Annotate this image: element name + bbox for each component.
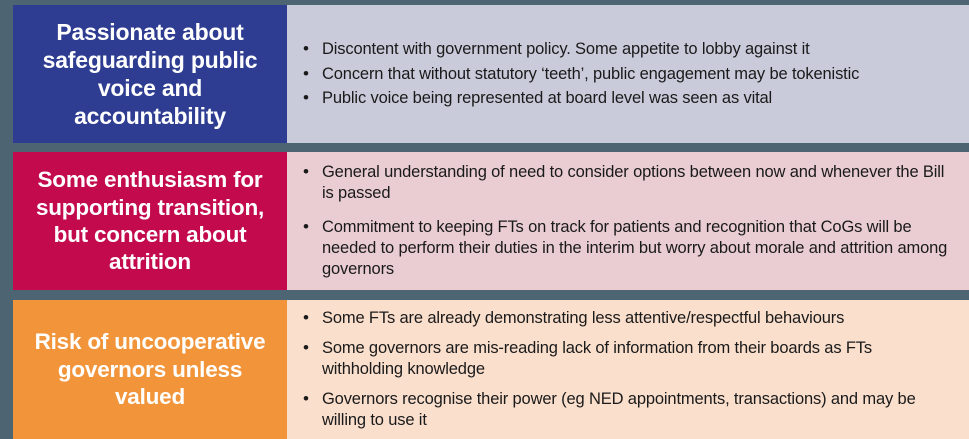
theme-row: Passionate about safeguarding public voi…: [0, 5, 969, 143]
list-item: Concern that without statutory ‘teeth’, …: [299, 64, 955, 85]
list-item: Some governors are mis-reading lack of i…: [299, 338, 955, 380]
list-item: General understanding of need to conside…: [299, 162, 955, 204]
theme-header-1: Some enthusiasm for supporting transitio…: [13, 152, 287, 290]
bullet-list-0: Discontent with government policy. Some …: [299, 39, 955, 110]
list-item: Governors recognise their power (eg NED …: [299, 389, 955, 431]
bullet-list-2: Some FTs are already demonstrating less …: [299, 308, 955, 431]
slide-canvas: Passionate about safeguarding public voi…: [0, 0, 969, 439]
theme-row: Some enthusiasm for supporting transitio…: [0, 152, 969, 290]
list-item: Public voice being represented at board …: [299, 88, 955, 109]
theme-row: Risk of uncooperative governors unless v…: [0, 300, 969, 439]
theme-body-2: Some FTs are already demonstrating less …: [287, 300, 969, 439]
list-item: Some FTs are already demonstrating less …: [299, 308, 955, 329]
list-item: Commitment to keeping FTs on track for p…: [299, 217, 955, 280]
list-item: Discontent with government policy. Some …: [299, 39, 955, 60]
bullet-list-1: General understanding of need to conside…: [299, 162, 955, 280]
theme-header-0: Passionate about safeguarding public voi…: [13, 5, 287, 143]
theme-header-2: Risk of uncooperative governors unless v…: [13, 300, 287, 439]
theme-body-1: General understanding of need to conside…: [287, 152, 969, 290]
theme-body-0: Discontent with government policy. Some …: [287, 5, 969, 143]
